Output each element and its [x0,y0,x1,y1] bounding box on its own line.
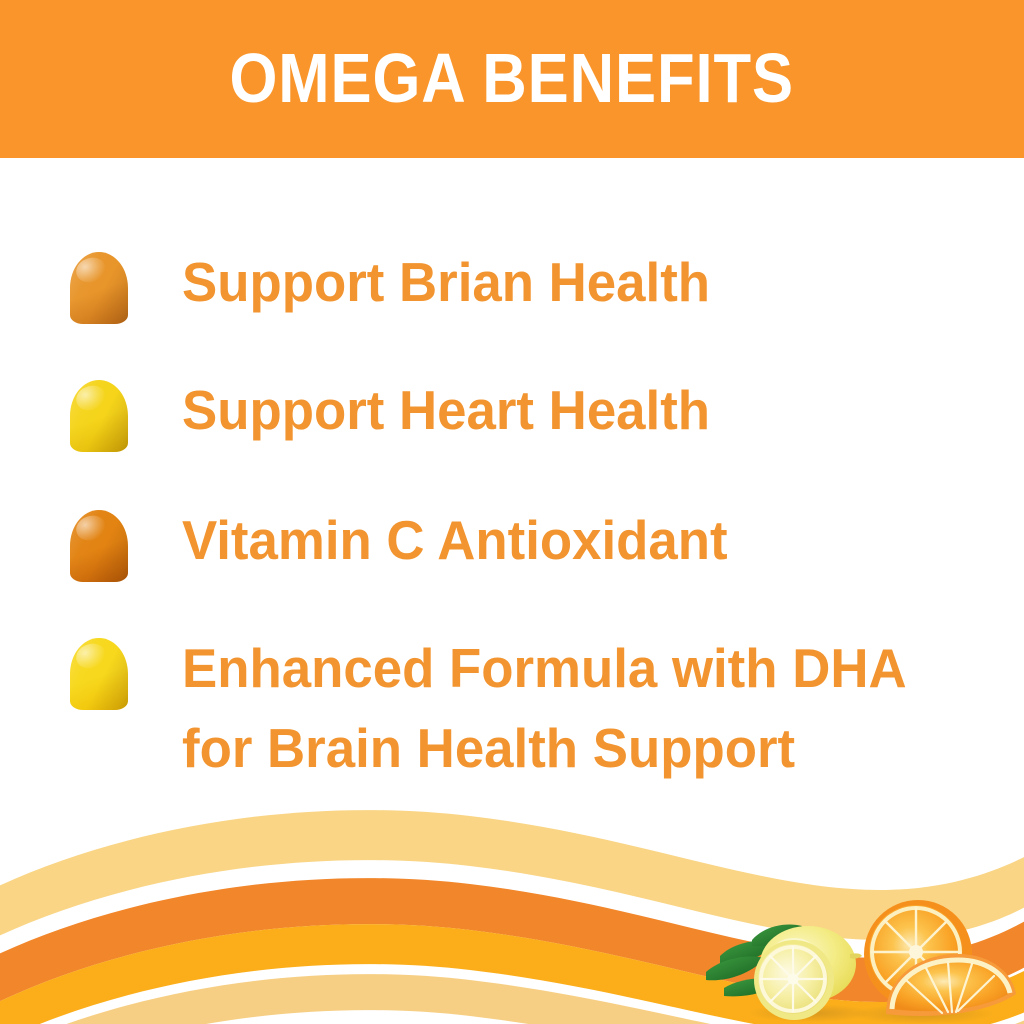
gummy-candy-icon [62,510,132,590]
list-item: Support Heart Health [62,370,1022,460]
header-band: OMEGA BENEFITS [0,0,1024,158]
gummy-candy-icon [62,252,132,332]
omega-benefits-poster: OMEGA BENEFITS Support Brian Health Supp… [0,0,1024,1024]
page-title: OMEGA BENEFITS [230,43,794,113]
benefit-label: Enhanced Formula with DHA for Brain Heal… [182,628,907,789]
benefit-label: Support Heart Health [182,370,710,450]
gummy-candy-icon [62,638,132,718]
gummy-candy-icon [62,380,132,460]
list-item: Support Brian Health [62,242,1022,332]
list-item: Enhanced Formula with DHA for Brain Heal… [62,628,1022,789]
benefits-list: Support Brian Health Support Heart Healt… [0,158,1024,808]
list-item: Vitamin C Antioxidant [62,500,1022,590]
benefit-label: Support Brian Health [182,242,710,322]
benefit-label: Vitamin C Antioxidant [182,500,728,580]
lemon-half-icon [754,940,834,1020]
citrus-fruit-cluster-icon [690,892,1020,1024]
